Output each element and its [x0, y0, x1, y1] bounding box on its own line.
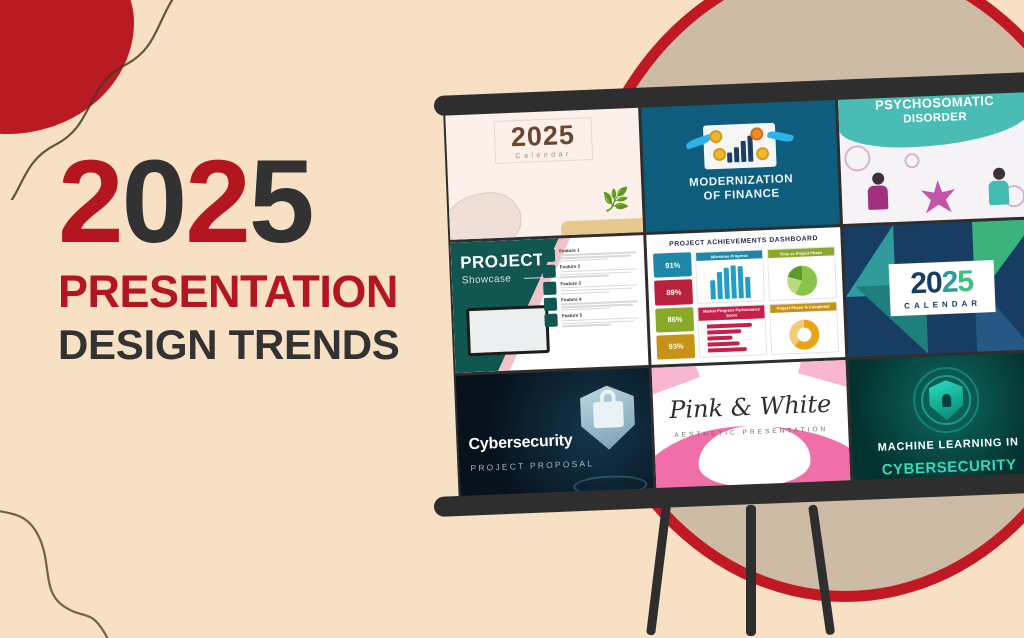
- finance-title: MODERNIZATION OF FINANCE: [689, 172, 794, 205]
- headline-line-2: PRESENTATION: [58, 269, 458, 314]
- coin-icon-2: [713, 147, 727, 161]
- bar-1: [727, 152, 732, 162]
- headline-line-3: DESIGN TRENDS: [58, 324, 458, 366]
- headline-block: 2025 PRESENTATION DESIGN TRENDS: [58, 148, 458, 366]
- bar-2: [734, 147, 740, 162]
- pie-slice-group: [786, 265, 817, 296]
- slide-thumbnail-calendar-geometric[interactable]: 2025 CALENDAR: [843, 219, 1024, 357]
- phase-completed-panel: Project Phase % Completed: [769, 301, 839, 355]
- list-item: Feature 5: [545, 311, 643, 328]
- shelf-shape: [561, 218, 643, 235]
- cybersecurity-title: Cybersecurity: [468, 432, 573, 454]
- finance-illustration: [703, 122, 777, 169]
- slide-thumbnail-project-showcase[interactable]: PROJECT Showcase Feature 1 Feature 2 Fea…: [450, 235, 648, 373]
- calendar-card: 2025 CALENDAR: [889, 260, 996, 316]
- coin-icon-1: [709, 129, 723, 143]
- slide-thumbnail-ml-cybersecurity[interactable]: MACHINE LEARNING IN CYBERSECURITY: [848, 352, 1024, 490]
- kpi-card: 89%: [654, 279, 693, 305]
- feature-list: Feature 1 Feature 2 Feature 3 Feature 4: [542, 245, 643, 328]
- kpi-value: 89%: [666, 287, 681, 297]
- project-subtitle: Showcase: [462, 273, 512, 286]
- cell-circle-icon-1: [844, 145, 871, 172]
- body-shape: [988, 180, 1009, 205]
- donut-slice-group: [789, 319, 820, 350]
- fan-shape-right: [798, 360, 851, 387]
- fan-shape-left: [652, 360, 700, 395]
- calendar-year: 2025: [903, 268, 981, 300]
- project-title: PROJECT: [460, 251, 544, 271]
- bar: [724, 268, 730, 299]
- pink-white-title: Pink & White: [653, 389, 847, 425]
- donut-chart: [770, 310, 837, 354]
- wing-right-icon: [767, 129, 794, 143]
- easel-leg-center: [746, 505, 756, 636]
- plant-icon: 🌿: [602, 189, 629, 220]
- milestone-progress-panel: Milestone Progress: [695, 249, 765, 303]
- feature-icon-4: [544, 298, 558, 312]
- calendar-year: 2025: [510, 122, 575, 152]
- feature-icon-2: [543, 265, 557, 279]
- laptop-icon: [466, 305, 550, 356]
- kpi-card: 86%: [656, 307, 695, 333]
- list-item: Feature 3: [543, 278, 641, 295]
- bar: [731, 265, 737, 298]
- lightbulb-icon: [750, 127, 764, 141]
- coin-icon-3: [756, 147, 770, 161]
- kpi-column: 91% 89% 86% 93%: [653, 252, 695, 359]
- list-item: Feature 4: [544, 294, 642, 311]
- year-digit-1: 2: [58, 136, 122, 268]
- calendar-subtitle: Calendar: [511, 151, 575, 161]
- kpi-card: 91%: [653, 252, 692, 278]
- time-vs-phase-panel: Time vs Project Phase: [767, 246, 837, 300]
- panel-column-right: Time vs Project Phase Project Phase % Co…: [767, 246, 839, 355]
- bar-3: [741, 141, 747, 162]
- pie-chart: [768, 255, 835, 299]
- panel-column-left: Milestone Progress Market Progress Perfo…: [695, 249, 767, 358]
- head-shape: [993, 168, 1005, 180]
- bar: [738, 266, 744, 297]
- bar: [745, 277, 751, 298]
- wing-left-icon: [685, 134, 712, 150]
- kpi-card: 93%: [657, 334, 696, 360]
- slide-grid-board: 2025 Calendar 🌿 MODERNIZATION OF FINANCE: [443, 84, 1024, 507]
- dashboard-grid: 91% 89% 86% 93% Milestone Progress: [653, 246, 838, 359]
- slide-thumbnail-achievements-dashboard[interactable]: PROJECT ACHIEVEMENTS DASHBOARD 91% 89% 8…: [647, 227, 845, 365]
- slide-thumbnail-psychosomatic-disorder[interactable]: PSYCHOSOMATIC DISORDER: [837, 86, 1024, 224]
- feature-icon-1: [542, 249, 556, 263]
- bar: [708, 335, 733, 340]
- bar-chart: [697, 258, 764, 302]
- list-item: Feature 2: [543, 262, 641, 279]
- feature-icon-5: [545, 314, 559, 328]
- cybersecurity-subtitle: PROJECT PROPOSAL: [470, 459, 594, 474]
- person-right-icon: [988, 167, 1012, 210]
- feature-icon-3: [543, 281, 557, 295]
- list-item: Feature 1: [542, 245, 640, 262]
- bar: [708, 347, 746, 353]
- kpi-value: 91%: [665, 260, 680, 270]
- year-digit-2: 0: [122, 136, 186, 268]
- slide-thumbnail-pink-and-white[interactable]: Pink & White AESTHETIC PRESENTATION: [652, 360, 850, 498]
- calendar-title-box: 2025 Calendar: [493, 117, 593, 164]
- head-shape: [872, 172, 884, 184]
- headline-year: 2025: [58, 148, 458, 257]
- ml-title-line1: MACHINE LEARNING IN: [851, 435, 1024, 455]
- horizontal-bar-chart: [699, 318, 766, 357]
- easel-leg-right: [808, 504, 835, 635]
- bar: [708, 341, 740, 346]
- bar: [707, 329, 741, 334]
- kpi-value: 86%: [667, 315, 682, 325]
- kpi-value: 93%: [668, 342, 683, 352]
- market-performance-panel: Market Progress Performance Score: [697, 304, 767, 358]
- body-shape: [867, 185, 888, 210]
- bar: [717, 272, 723, 298]
- plant-illustration-icon: [921, 180, 956, 215]
- bar: [707, 323, 752, 329]
- cell-circle-icon-2: [904, 153, 920, 169]
- slide-thumbnail-cybersecurity-proposal[interactable]: Cybersecurity PROJECT PROPOSAL: [456, 368, 654, 506]
- slide-thumbnail-modernization-of-finance[interactable]: MODERNIZATION OF FINANCE: [641, 94, 839, 232]
- keyhole-icon: [942, 394, 952, 407]
- slide-thumbnail-calendar-cream[interactable]: 2025 Calendar 🌿: [445, 102, 643, 240]
- lock-shackle-icon: [600, 389, 617, 406]
- easel-leg-left: [646, 504, 671, 635]
- year-digit-4: 5: [249, 136, 313, 268]
- year-digit-3: 2: [185, 136, 249, 268]
- person-left-icon: [867, 172, 891, 215]
- bar: [710, 280, 716, 299]
